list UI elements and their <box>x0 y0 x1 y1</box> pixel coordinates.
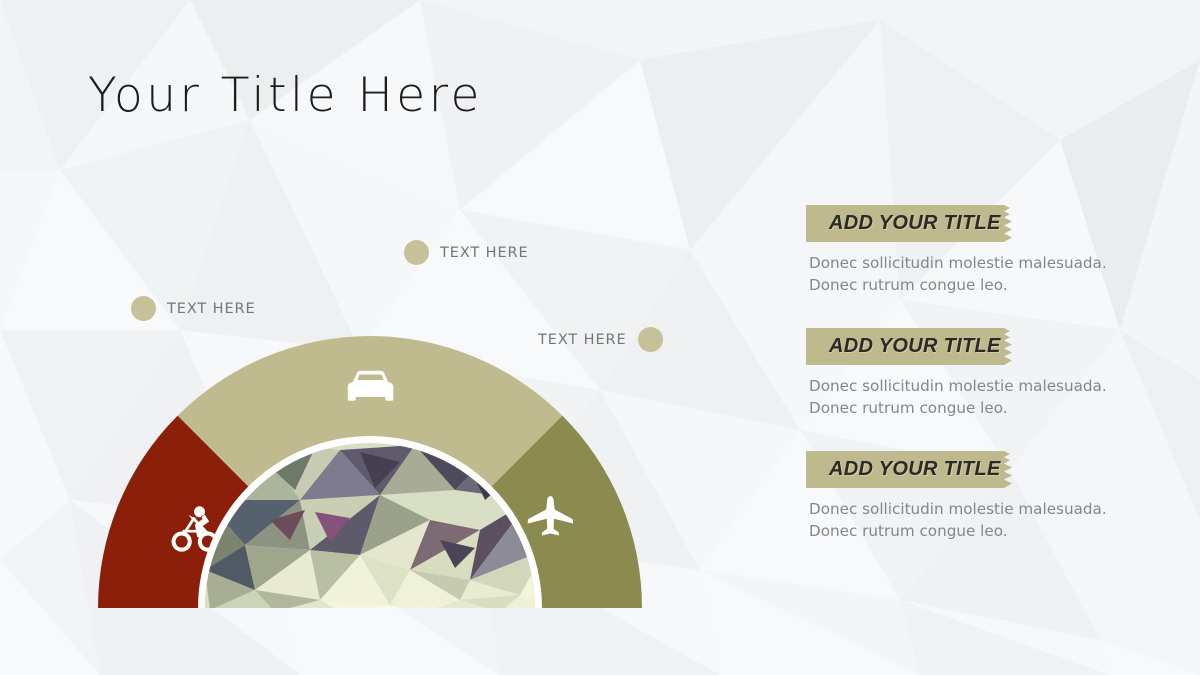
callout-dot-icon <box>131 296 156 321</box>
page-title: Your Title Here <box>88 68 483 123</box>
content-block-2: ADD YOUR TITLE Donec sollicitudin molest… <box>806 451 1126 542</box>
title-banner-0[interactable]: ADD YOUR TITLE <box>806 205 1018 242</box>
title-banner-1[interactable]: ADD YOUR TITLE <box>806 328 1018 365</box>
callout-label-0[interactable]: TEXT HERE <box>131 296 256 321</box>
block-body-text: Donec sollicitudin molestie malesuada. D… <box>806 376 1126 419</box>
banner-title: ADD YOUR TITLE <box>806 335 1001 358</box>
semicircle-diagram <box>60 200 720 630</box>
content-block-0: ADD YOUR TITLE Donec sollicitudin molest… <box>806 205 1126 296</box>
callout-text: TEXT HERE <box>440 245 529 261</box>
slide-canvas: Your Title Here <box>0 0 1200 675</box>
callout-label-1[interactable]: TEXT HERE <box>404 240 529 265</box>
block-body-text: Donec sollicitudin molestie malesuada. D… <box>806 253 1126 296</box>
callout-text: TEXT HERE <box>538 332 627 348</box>
banner-title: ADD YOUR TITLE <box>806 458 1001 481</box>
content-panel: ADD YOUR TITLE Donec sollicitudin molest… <box>806 205 1126 542</box>
callout-dot-icon <box>404 240 429 265</box>
banner-title: ADD YOUR TITLE <box>806 212 1001 235</box>
callout-text: TEXT HERE <box>167 301 256 317</box>
title-banner-2[interactable]: ADD YOUR TITLE <box>806 451 1018 488</box>
semicircle-svg <box>60 200 720 630</box>
content-block-1: ADD YOUR TITLE Donec sollicitudin molest… <box>806 328 1126 419</box>
callout-label-2[interactable]: TEXT HERE <box>538 327 663 352</box>
block-body-text: Donec sollicitudin molestie malesuada. D… <box>806 499 1126 542</box>
callout-dot-icon <box>638 327 663 352</box>
